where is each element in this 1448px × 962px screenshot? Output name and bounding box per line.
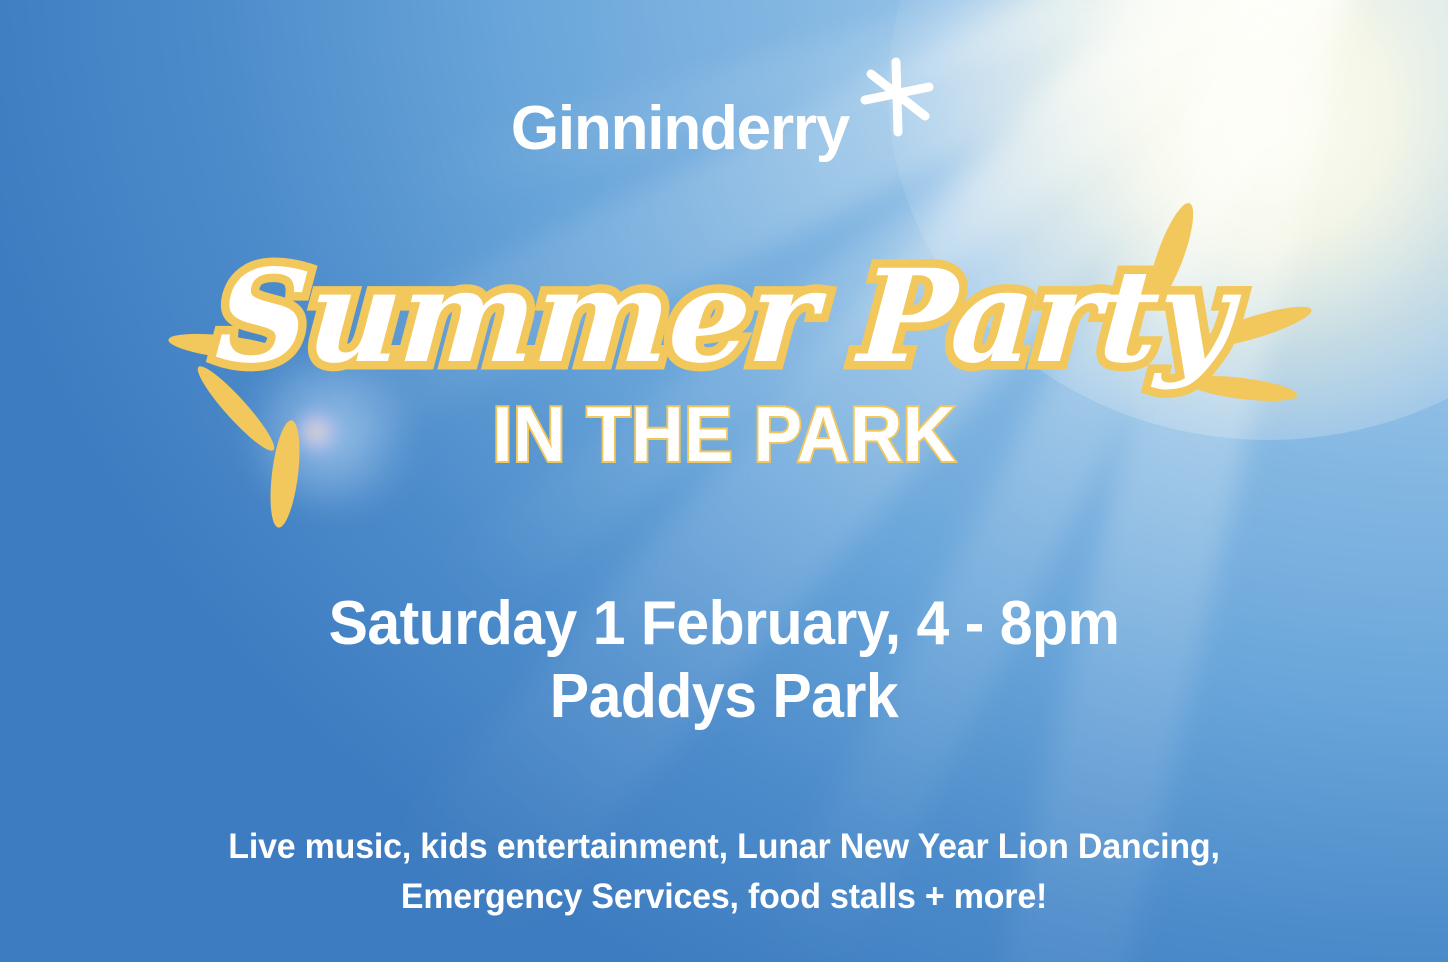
title-subtitle: IN THE PARK [51,389,1398,480]
event-blurb: Live music, kids entertainment, Lunar Ne… [0,822,1448,921]
blurb-line-2: Emergency Services, food stalls + more! [22,872,1427,922]
logo-wordmark: Ginninderry [511,98,849,160]
asterisk-icon [851,54,937,140]
summer-party-poster: Ginninderry Summer Party IN THE PARK Sat… [0,0,1448,962]
event-venue: Paddys Park [36,661,1412,734]
blurb-line-1: Live music, kids entertainment, Lunar Ne… [22,822,1427,872]
brand-logo: Ginninderry [0,98,1448,160]
event-details: Saturday 1 February, 4 - 8pm Paddys Park [0,588,1448,733]
event-datetime: Saturday 1 February, 4 - 8pm [36,588,1412,661]
title-block: Summer Party IN THE PARK [0,252,1448,480]
title-script: Summer Party [212,252,1236,383]
